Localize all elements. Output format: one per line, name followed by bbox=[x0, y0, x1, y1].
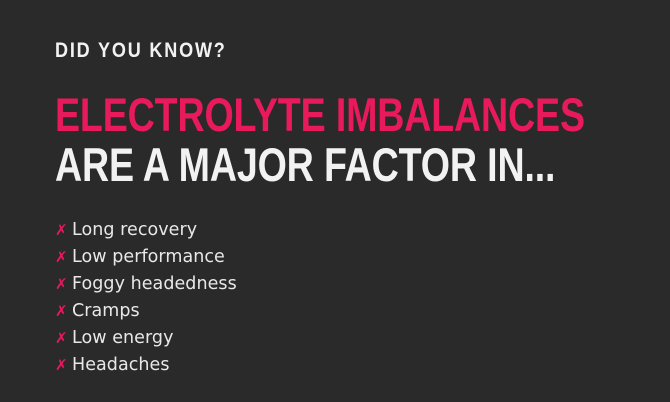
list-item: ✗ Low energy bbox=[55, 325, 620, 352]
page-title: ELECTROLYTE IMBALANCES ARE A MAJOR FACTO… bbox=[55, 90, 620, 190]
headline-rest-text: ARE A MAJOR FACTOR IN... bbox=[55, 138, 555, 191]
kicker-label: DID YOU KNOW? bbox=[55, 40, 541, 61]
list-item-label: Low energy bbox=[72, 325, 174, 352]
cross-icon: ✗ bbox=[55, 325, 72, 352]
list-item-label: Low performance bbox=[72, 244, 225, 271]
cross-icon: ✗ bbox=[55, 271, 72, 298]
list-item-label: Headaches bbox=[72, 352, 170, 379]
cross-icon: ✗ bbox=[55, 217, 72, 244]
list-item: ✗ Cramps bbox=[55, 298, 620, 325]
list-item-label: Cramps bbox=[72, 298, 140, 325]
cross-icon: ✗ bbox=[55, 244, 72, 271]
list-item-label: Long recovery bbox=[72, 217, 197, 244]
list-item: ✗ Headaches bbox=[55, 352, 620, 379]
symptom-list: ✗ Long recovery ✗ Low performance ✗ Fogg… bbox=[55, 217, 620, 379]
list-item: ✗ Long recovery bbox=[55, 217, 620, 244]
headline-accent-text: ELECTROLYTE IMBALANCES bbox=[55, 88, 585, 141]
list-item: ✗ Low performance bbox=[55, 244, 620, 271]
cross-icon: ✗ bbox=[55, 298, 72, 325]
list-item: ✗ Foggy headedness bbox=[55, 271, 620, 298]
cross-icon: ✗ bbox=[55, 352, 72, 379]
infographic-slide: DID YOU KNOW? ELECTROLYTE IMBALANCES ARE… bbox=[0, 0, 670, 402]
list-item-label: Foggy headedness bbox=[72, 271, 237, 298]
